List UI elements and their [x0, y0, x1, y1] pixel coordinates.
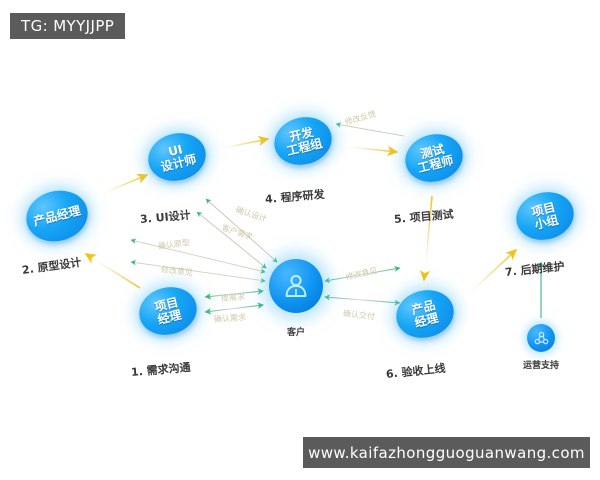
node-product-manager-left[interactable]: 产品经理 [26, 191, 88, 241]
customer-avatar-circle [269, 259, 323, 313]
node-ellipse: 项目 经理 [134, 281, 202, 341]
node-ellipse: UI 设计师 [143, 127, 211, 187]
edge-layer [0, 0, 600, 480]
node-ellipse: 测试 工程师 [400, 128, 468, 188]
node-test-engineer[interactable]: 测试 工程师 [405, 135, 463, 182]
node-ops-support[interactable] [527, 324, 555, 352]
diagram-canvas: 产品经理 2. 原型设计 UI 设计师 3. UI设计 开发 工程组 4. 程序… [0, 0, 600, 480]
edge-label-raise-requirement: 提需求 [221, 291, 246, 304]
node-product-manager-right[interactable]: 产品 经理 [396, 291, 454, 338]
caption-customer: 客户 [287, 325, 305, 338]
node-project-manager[interactable]: 项目 经理 [139, 288, 197, 335]
node-role-label: UI 设计师 [156, 140, 197, 174]
node-ellipse: 项目 小组 [511, 186, 579, 246]
node-project-group[interactable]: 项目 小组 [516, 193, 574, 240]
watermark-url: www.kaifazhongguoguanwang.com [303, 437, 590, 468]
node-ellipse: 开发 工程组 [269, 111, 337, 171]
node-role-label: 测试 工程师 [413, 141, 454, 175]
node-ui-designer[interactable]: UI 设计师 [148, 134, 206, 181]
node-role-label: 项目 经理 [153, 296, 183, 327]
caption-ops-support: 运营支持 [523, 358, 559, 371]
node-role-label: 产品 经理 [410, 299, 440, 330]
node-dev-team[interactable]: 开发 工程组 [274, 118, 332, 165]
node-ellipse: 产品 经理 [391, 284, 459, 344]
node-role-label: 开发 工程组 [282, 124, 323, 158]
edge-label-confirm-requirement: 确认需求 [214, 312, 247, 325]
node-role-label: 项目 小组 [530, 201, 560, 232]
watermark-tag: TG: MYYJJPP [10, 13, 125, 39]
person-icon [281, 271, 311, 301]
node-role-label: 产品经理 [32, 204, 82, 228]
ops-support-circle [527, 324, 555, 352]
recycle-icon [533, 330, 550, 347]
node-customer[interactable] [269, 259, 323, 313]
node-ellipse: 产品经理 [21, 184, 93, 248]
